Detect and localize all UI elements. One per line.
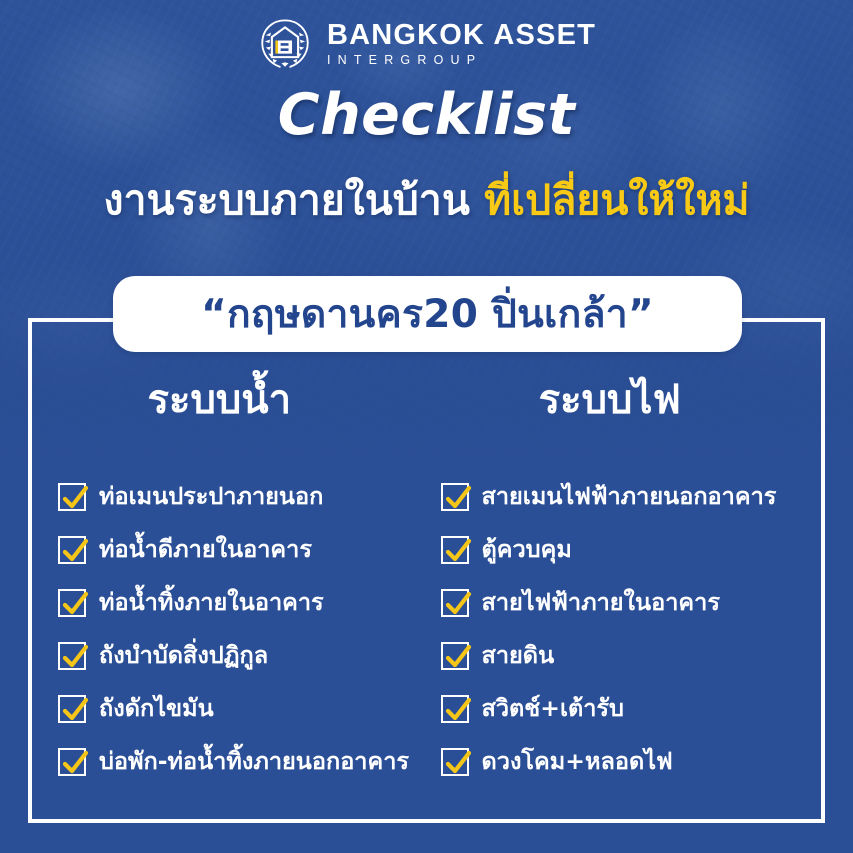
project-name-banner: “กฤษดานคร20 ปิ่นเกล้า” xyxy=(113,276,742,352)
list-item-label: บ่อพัก-ท่อน้ำทิ้งภายนอกอาคาร xyxy=(99,748,409,775)
subtitle-white-part: งานระบบภายในบ้าน xyxy=(104,176,470,224)
checkbox-checked-icon[interactable] xyxy=(441,536,469,564)
checkbox-checked-icon[interactable] xyxy=(441,748,469,776)
list-item-label: ท่อน้ำดีภายในอาคาร xyxy=(99,536,312,563)
house-laurel-crest-icon xyxy=(257,16,313,72)
checkbox-checked-icon[interactable] xyxy=(441,642,469,670)
list-item[interactable]: ตู้ควบคุม xyxy=(441,523,812,576)
page-title: Checklist xyxy=(0,82,853,148)
checkbox-checked-icon[interactable] xyxy=(58,589,86,617)
column-heading-water: ระบบน้ำ xyxy=(42,380,427,420)
list-item[interactable]: บ่อพัก-ท่อน้ำทิ้งภายนอกอาคาร xyxy=(58,735,427,788)
checkbox-checked-icon[interactable] xyxy=(58,536,86,564)
subtitle-yellow-part: ที่เปลี่ยนให้ใหม่ xyxy=(484,176,749,224)
checklist-column-water: ระบบน้ำ ท่อเมนประปาภายนอก ท่อน้ำดีภายในอ… xyxy=(42,318,427,823)
list-item[interactable]: ถังดักไขมัน xyxy=(58,682,427,735)
list-item[interactable]: ท่อน้ำดีภายในอาคาร xyxy=(58,523,427,576)
checkbox-checked-icon[interactable] xyxy=(58,642,86,670)
brand-header: BANGKOK ASSET INTERGROUP xyxy=(0,16,853,72)
list-item-label: ท่อเมนประปาภายนอก xyxy=(99,483,323,510)
list-item[interactable]: สายดิน xyxy=(441,629,812,682)
checklist-columns: ระบบน้ำ ท่อเมนประปาภายนอก ท่อน้ำดีภายในอ… xyxy=(28,318,825,823)
list-item[interactable]: สายเมนไฟฟ้าภายนอกอาคาร xyxy=(441,470,812,523)
checklist-column-electric: ระบบไฟ สายเมนไฟฟ้าภายนอกอาคาร ตู้ควบคุม xyxy=(427,318,812,823)
list-item-label: สายไฟฟ้าภายในอาคาร xyxy=(482,589,720,616)
list-item-label: สายดิน xyxy=(482,642,555,669)
brand-subtitle: INTERGROUP xyxy=(327,53,596,67)
list-item-label: ถังดักไขมัน xyxy=(99,695,214,722)
list-item-label: สวิตช์+เต้ารับ xyxy=(482,695,624,722)
list-item[interactable]: สวิตช์+เต้ารับ xyxy=(441,682,812,735)
list-item-label: ถังบำบัดสิ่งปฏิกูล xyxy=(99,642,268,669)
checkbox-checked-icon[interactable] xyxy=(441,589,469,617)
project-name-text: “กฤษดานคร20 ปิ่นเกล้า” xyxy=(201,283,654,345)
column-heading-electric: ระบบไฟ xyxy=(427,380,812,420)
list-item-label: ตู้ควบคุม xyxy=(482,536,572,563)
list-item[interactable]: ท่อเมนประปาภายนอก xyxy=(58,470,427,523)
list-item-label: ท่อน้ำทิ้งภายในอาคาร xyxy=(99,589,324,616)
checkbox-checked-icon[interactable] xyxy=(58,748,86,776)
checkbox-checked-icon[interactable] xyxy=(441,695,469,723)
list-item-label: สายเมนไฟฟ้าภายนอกอาคาร xyxy=(482,483,777,510)
list-item[interactable]: ถังบำบัดสิ่งปฏิกูล xyxy=(58,629,427,682)
list-item[interactable]: ดวงโคม+หลอดไฟ xyxy=(441,735,812,788)
checkbox-checked-icon[interactable] xyxy=(441,483,469,511)
checkbox-checked-icon[interactable] xyxy=(58,695,86,723)
checklist-items-water: ท่อเมนประปาภายนอก ท่อน้ำดีภายในอาคาร ท่อ… xyxy=(42,470,427,788)
brand-name: BANGKOK ASSET xyxy=(327,21,596,51)
list-item[interactable]: สายไฟฟ้าภายในอาคาร xyxy=(441,576,812,629)
list-item-label: ดวงโคม+หลอดไฟ xyxy=(482,748,673,775)
subtitle-line: งานระบบภายในบ้าน ที่เปลี่ยนให้ใหม่ xyxy=(0,178,853,223)
list-item[interactable]: ท่อน้ำทิ้งภายในอาคาร xyxy=(58,576,427,629)
checklist-items-electric: สายเมนไฟฟ้าภายนอกอาคาร ตู้ควบคุม สายไฟฟ้… xyxy=(427,470,812,788)
checkbox-checked-icon[interactable] xyxy=(58,483,86,511)
poster-canvas: BANGKOK ASSET INTERGROUP Checklist งานระ… xyxy=(0,0,853,853)
